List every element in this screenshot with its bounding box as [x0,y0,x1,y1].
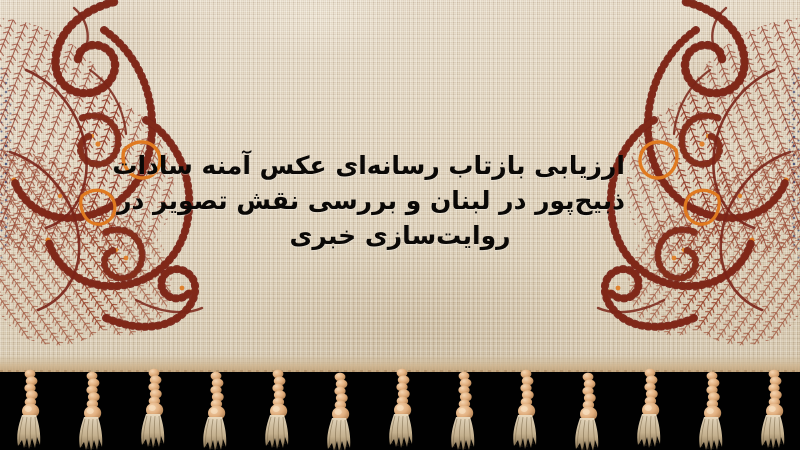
banner-title: ارزیابی بازتاب رسانه‌ای عکس آمنه سادات ذ… [175,148,625,253]
knotted-tassel-fringe [0,366,800,450]
title-line-2: ذبیح‌پور در لبنان و بررسی نقش تصویر در [175,183,625,218]
linen-cloth-panel: ارزیابی بازتاب رسانه‌ای عکس آمنه سادات ذ… [0,0,800,372]
title-line-3: روایت‌سازی خبری [175,218,625,253]
title-line-1: ارزیابی بازتاب رسانه‌ای عکس آمنه سادات [175,148,625,183]
textile-banner: ارزیابی بازتاب رسانه‌ای عکس آمنه سادات ذ… [0,0,800,450]
